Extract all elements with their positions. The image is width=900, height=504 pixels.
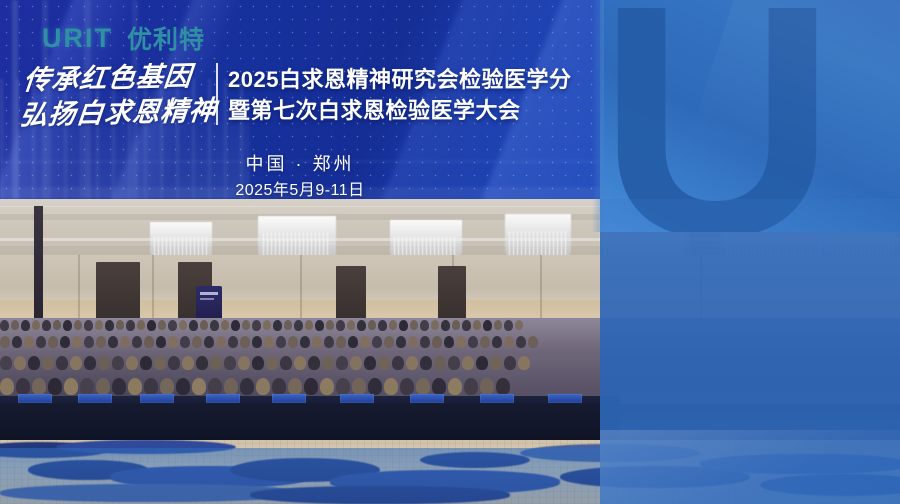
urit-logo-en: URIT — [42, 23, 113, 54]
name-card — [480, 394, 514, 403]
name-card — [548, 394, 582, 403]
name-card — [140, 394, 174, 403]
calligraphy-slogan: 传承红色基因 弘扬白求恩精神 — [18, 60, 215, 134]
banner-text-line — [200, 298, 214, 300]
name-card — [272, 394, 306, 403]
conference-banner-image: URIT 优利特 传承红色基因 弘扬白求恩精神 2025白求恩精神研究会检验医学… — [0, 0, 900, 504]
calligraphy-line-1: 传承红色基因 — [22, 60, 216, 100]
brand-panel: U — [600, 0, 900, 232]
calligraphy-line-2: 弘扬白求恩精神 — [18, 94, 212, 134]
banner-text-line — [200, 292, 218, 295]
urit-logo: URIT 优利特 — [42, 20, 205, 56]
name-card — [206, 394, 240, 403]
blue-scrim-bottom — [0, 448, 600, 504]
name-card — [78, 394, 112, 403]
urit-logo-cn: 优利特 — [127, 20, 205, 56]
conference-date: 2025年5月9-11日 — [0, 176, 600, 199]
scrim-light-wash — [600, 430, 900, 504]
conference-title: 2025白求恩精神研究会检验医学分 暨第七次白求恩检验医学大会 — [228, 64, 600, 126]
panel-edge-fade — [592, 0, 604, 232]
stage-led-screen: URIT 优利特 传承红色基因 弘扬白求恩精神 2025白求恩精神研究会检验医学… — [0, 0, 600, 199]
conference-title-line-2: 暨第七次白求恩检验医学大会 — [228, 95, 600, 126]
name-card — [18, 394, 52, 403]
conference-location: 中国 · 郑州 — [0, 150, 600, 176]
conference-title-line-1: 2025白求恩精神研究会检验医学分 — [228, 64, 600, 95]
name-card — [340, 394, 374, 403]
name-card — [410, 394, 444, 403]
vertical-divider — [216, 63, 218, 125]
blue-scrim-middle — [600, 199, 900, 232]
